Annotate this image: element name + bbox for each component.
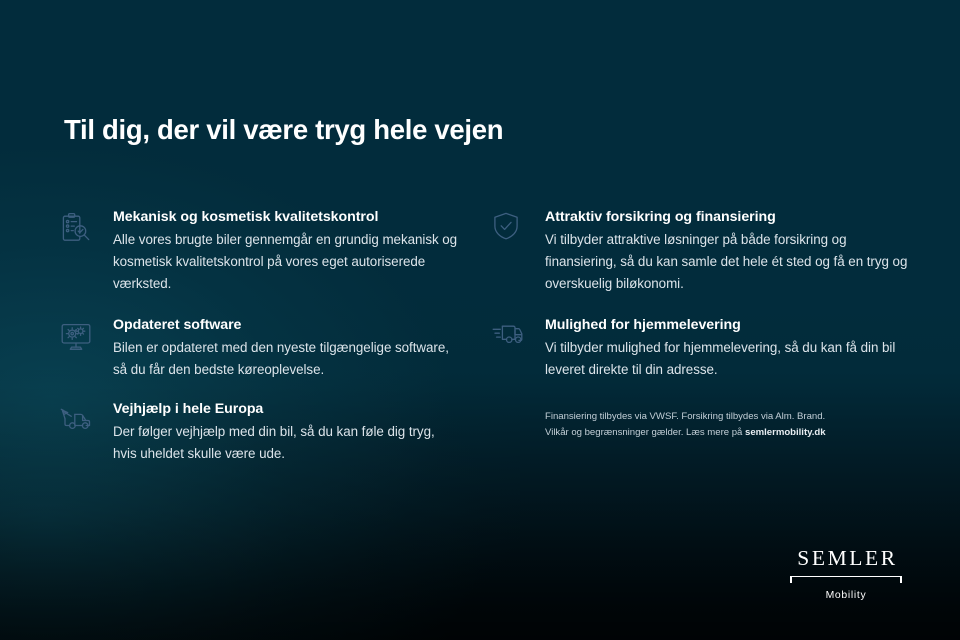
feature-title: Opdateret software	[113, 316, 458, 334]
feature-hjemmelevering: Mulighed for hjemmelevering Vi tilbyder …	[490, 316, 910, 381]
logo-wordmark: SEMLER	[790, 548, 902, 570]
feature-title: Mulighed for hjemmelevering	[545, 316, 910, 334]
feature-body: Alle vores brugte biler gennemgår en gru…	[113, 229, 458, 294]
feature-text-group: Attraktiv forsikring og finansiering Vi …	[534, 208, 910, 295]
feature-title: Attraktiv forsikring og finansiering	[545, 208, 910, 226]
clipboard-magnifier-check-icon	[58, 208, 102, 252]
page-title: Til dig, der vil være tryg hele vejen	[64, 114, 503, 146]
semler-mobility-logo: SEMLER Mobility	[790, 548, 902, 601]
feature-forsikring-finansiering: Attraktiv forsikring og finansiering Vi …	[490, 208, 910, 295]
feature-vejhjaelp-europa: Vejhjælp i hele Europa Der følger vejhjæ…	[58, 400, 458, 465]
delivery-truck-icon	[490, 316, 534, 360]
slide-root: Til dig, der vil være tryg hele vejen Me…	[0, 0, 960, 640]
feature-title: Vejhjælp i hele Europa	[113, 400, 458, 418]
feature-title: Mekanisk og kosmetisk kvalitetskontrol	[113, 208, 458, 226]
logo-bracket-tick-left	[790, 576, 792, 583]
feature-body: Vi tilbyder attraktive løsninger på både…	[545, 229, 910, 294]
feature-mekanisk-kvalitetskontrol: Mekanisk og kosmetisk kvalitetskontrol A…	[58, 208, 458, 295]
disclaimer-line-2-prefix: Vilkår og begrænsninger gælder. Læs mere…	[545, 427, 745, 438]
disclaimer-line-2: Vilkår og begrænsninger gælder. Læs mere…	[545, 425, 895, 441]
logo-sublabel: Mobility	[790, 590, 902, 601]
feature-body: Der følger vejhjælp med din bil, så du k…	[113, 421, 458, 464]
feature-text-group: Opdateret software Bilen er opdateret me…	[102, 316, 458, 381]
feature-body: Vi tilbyder mulighed for hjemmelevering,…	[545, 337, 910, 380]
feature-opdateret-software: Opdateret software Bilen er opdateret me…	[58, 316, 458, 381]
feature-text-group: Mekanisk og kosmetisk kvalitetskontrol A…	[102, 208, 458, 295]
feature-text-group: Vejhjælp i hele Europa Der følger vejhjæ…	[102, 400, 458, 465]
logo-bracket-tick-right	[900, 576, 902, 583]
tow-truck-icon	[58, 400, 102, 444]
disclaimer-link[interactable]: semlermobility.dk	[745, 427, 826, 438]
feature-body: Bilen er opdateret med den nyeste tilgæn…	[113, 337, 458, 380]
logo-bracket-bar	[790, 576, 902, 578]
monitor-gears-icon	[58, 316, 102, 360]
shield-check-icon	[490, 208, 534, 252]
legal-disclaimer: Finansiering tilbydes via VWSF. Forsikri…	[545, 409, 895, 440]
feature-text-group: Mulighed for hjemmelevering Vi tilbyder …	[534, 316, 910, 381]
disclaimer-line-1: Finansiering tilbydes via VWSF. Forsikri…	[545, 409, 895, 425]
logo-bracket-rule	[790, 576, 902, 585]
